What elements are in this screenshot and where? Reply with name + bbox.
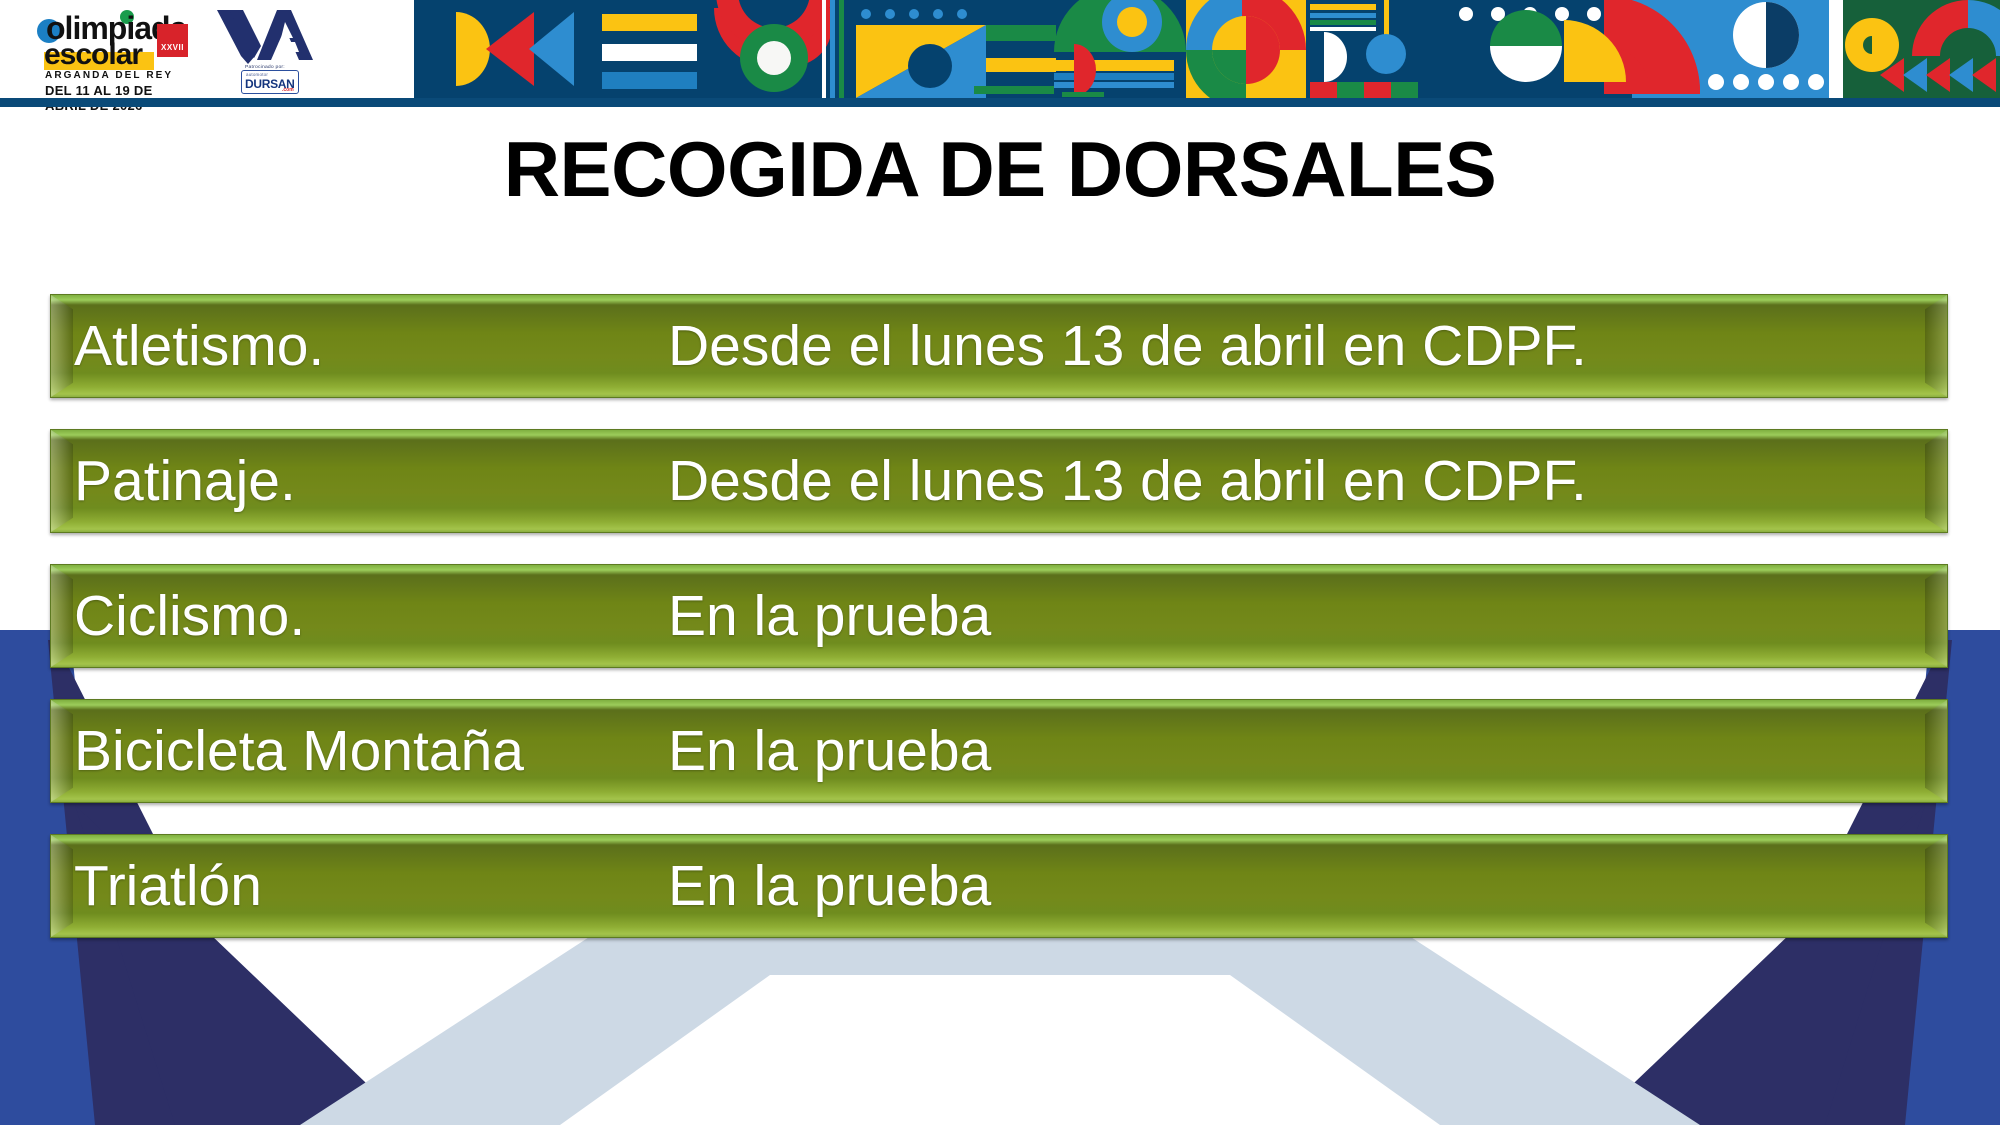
row-detail-label: Desde el lunes 13 de abril en CDPF. <box>668 429 1587 533</box>
logo-subtitle: ARGANDA DEL REY <box>45 70 173 81</box>
va-dursan-logo: Patrocinado por: automotor DURSAN .com <box>215 8 315 92</box>
logo-edition-badge <box>157 24 188 57</box>
dorsal-pickup-table: Atletismo. Desde el lunes 13 de abril en… <box>50 294 1948 969</box>
row-sport-label: Bicicleta Montaña <box>74 699 524 803</box>
dursan-badge: automotor DURSAN .com <box>241 70 299 94</box>
row-bar <box>50 834 1948 938</box>
row-sport-label: Atletismo. <box>74 294 324 398</box>
row-bar <box>50 564 1948 668</box>
header-underline <box>0 98 2000 107</box>
row-sport-label: Patinaje. <box>74 429 296 533</box>
table-row[interactable]: Triatlón En la prueba <box>50 834 1948 938</box>
table-row[interactable]: Patinaje. Desde el lunes 13 de abril en … <box>50 429 1948 533</box>
page-title: RECOGIDA DE DORSALES <box>0 124 2000 215</box>
table-row[interactable]: Atletismo. Desde el lunes 13 de abril en… <box>50 294 1948 398</box>
row-detail-label: En la prueba <box>668 834 991 938</box>
row-detail-label: En la prueba <box>668 699 991 803</box>
va-monogram-icon <box>215 8 315 64</box>
pattern-svg <box>414 0 2000 98</box>
row-sport-label: Ciclismo. <box>74 564 305 668</box>
deco-center-white <box>560 975 1440 1125</box>
logo-plate: olimpiada escolar XXVII ARGANDA DEL REY … <box>0 0 414 98</box>
table-row[interactable]: Ciclismo. En la prueba <box>50 564 1948 668</box>
row-detail-label: Desde el lunes 13 de abril en CDPF. <box>668 294 1587 398</box>
row-sport-label: Triatlón <box>74 834 262 938</box>
olimpiada-escolar-logo: olimpiada escolar XXVII ARGANDA DEL REY … <box>34 10 194 90</box>
row-detail-label: En la prueba <box>668 564 991 668</box>
slide-canvas: olimpiada escolar XXVII ARGANDA DEL REY … <box>0 0 2000 1125</box>
sponsor-patrocinado-label: Patrocinado por: <box>245 64 285 69</box>
dursan-tld-label: .com <box>282 87 294 93</box>
logo-word-escolar: escolar <box>44 40 142 70</box>
logo-edition-text: XXVII <box>161 43 184 52</box>
geometric-pattern-strip <box>414 0 2000 98</box>
table-row[interactable]: Bicicleta Montaña En la prueba <box>50 699 1948 803</box>
header-band: olimpiada escolar XXVII ARGANDA DEL REY … <box>0 0 2000 98</box>
